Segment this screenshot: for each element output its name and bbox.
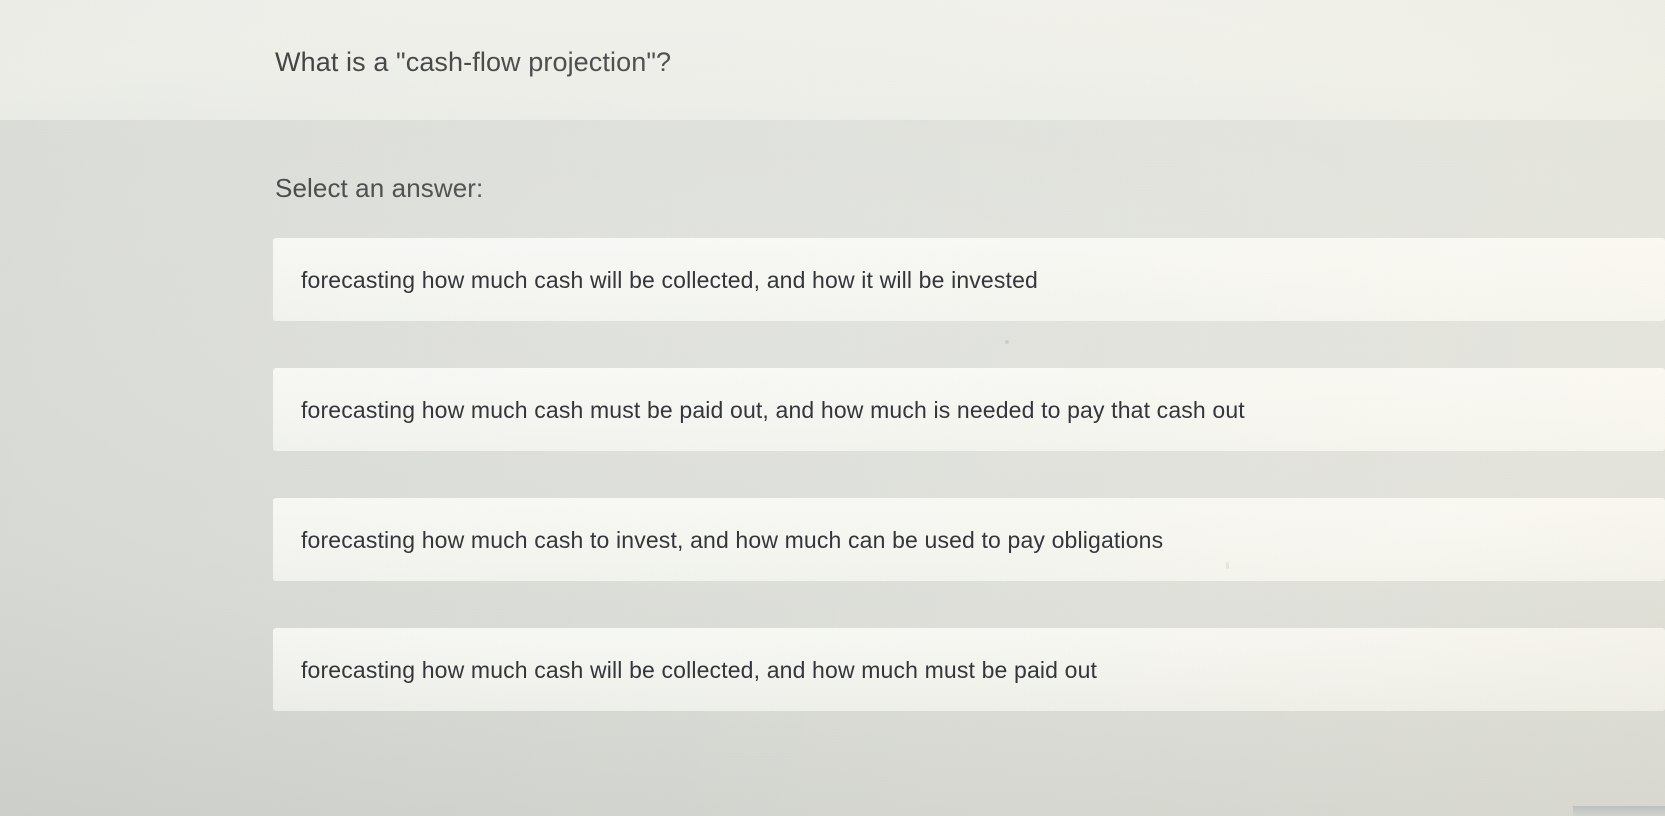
- question-text: What is a "cash-flow projection"?: [275, 43, 671, 81]
- answer-options-list: forecasting how much cash will be collec…: [273, 238, 1665, 758]
- quiz-screenshot: What is a "cash-flow projection"? Select…: [0, 0, 1665, 816]
- answer-option-label: forecasting how much cash must be paid o…: [273, 395, 1245, 425]
- answer-option-2[interactable]: forecasting how much cash must be paid o…: [273, 368, 1665, 451]
- answer-option-label: forecasting how much cash will be collec…: [273, 265, 1038, 295]
- answer-option-3[interactable]: forecasting how much cash to invest, and…: [273, 498, 1665, 581]
- select-answer-prompt: Select an answer:: [275, 170, 483, 206]
- screen-edge-sliver: [1573, 806, 1665, 816]
- quiz-content: What is a "cash-flow projection"? Select…: [0, 0, 1665, 816]
- answer-option-4[interactable]: forecasting how much cash will be collec…: [273, 628, 1665, 711]
- answer-option-label: forecasting how much cash will be collec…: [273, 655, 1097, 685]
- answer-option-label: forecasting how much cash to invest, and…: [273, 525, 1163, 555]
- answer-option-1[interactable]: forecasting how much cash will be collec…: [273, 238, 1665, 321]
